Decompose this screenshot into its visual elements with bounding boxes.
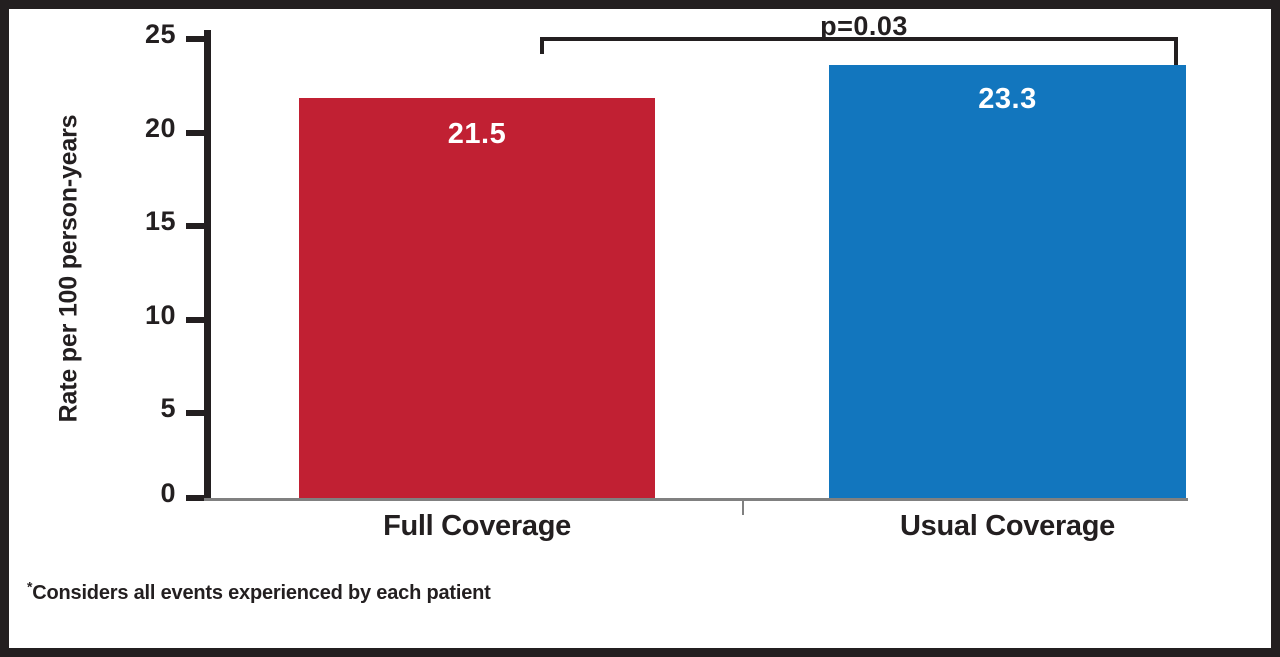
footnote: *Considers all events experienced by eac… <box>27 582 491 605</box>
x-axis-mid-tick <box>742 500 744 515</box>
y-tick-label-20: 20 <box>56 115 176 142</box>
y-tick-label-5: 5 <box>56 395 176 422</box>
footnote-text: Considers all events experienced by each… <box>32 582 490 604</box>
x-axis-line <box>204 498 1188 501</box>
figure-frame: Rate per 100 person-years 25 20 15 10 5 … <box>0 0 1280 657</box>
y-tick-20 <box>186 130 211 136</box>
y-tick-label-15: 15 <box>56 208 176 235</box>
bracket-left-arm <box>540 37 544 54</box>
bar-value-full-coverage: 21.5 <box>299 118 655 151</box>
significance-bracket <box>540 37 1178 73</box>
bar-value-usual-coverage: 23.3 <box>829 83 1186 116</box>
y-tick-25 <box>186 36 211 42</box>
plot-canvas: Rate per 100 person-years 25 20 15 10 5 … <box>9 9 1271 648</box>
bar-full-coverage[interactable]: 21.5 <box>299 98 655 500</box>
p-value-label: p=0.03 <box>759 11 969 42</box>
bar-usual-coverage[interactable]: 23.3 <box>829 65 1186 500</box>
y-tick-5 <box>186 410 211 416</box>
y-tick-10 <box>186 317 211 323</box>
x-tick-label-usual-coverage: Usual Coverage <box>829 510 1186 543</box>
y-tick-label-10: 10 <box>56 302 176 329</box>
y-axis-spine <box>204 30 211 500</box>
x-tick-label-full-coverage: Full Coverage <box>299 510 655 543</box>
y-tick-label-0: 0 <box>56 480 176 507</box>
bracket-right-arm <box>1174 37 1178 65</box>
y-tick-15 <box>186 223 211 229</box>
y-tick-label-25: 25 <box>56 21 176 48</box>
